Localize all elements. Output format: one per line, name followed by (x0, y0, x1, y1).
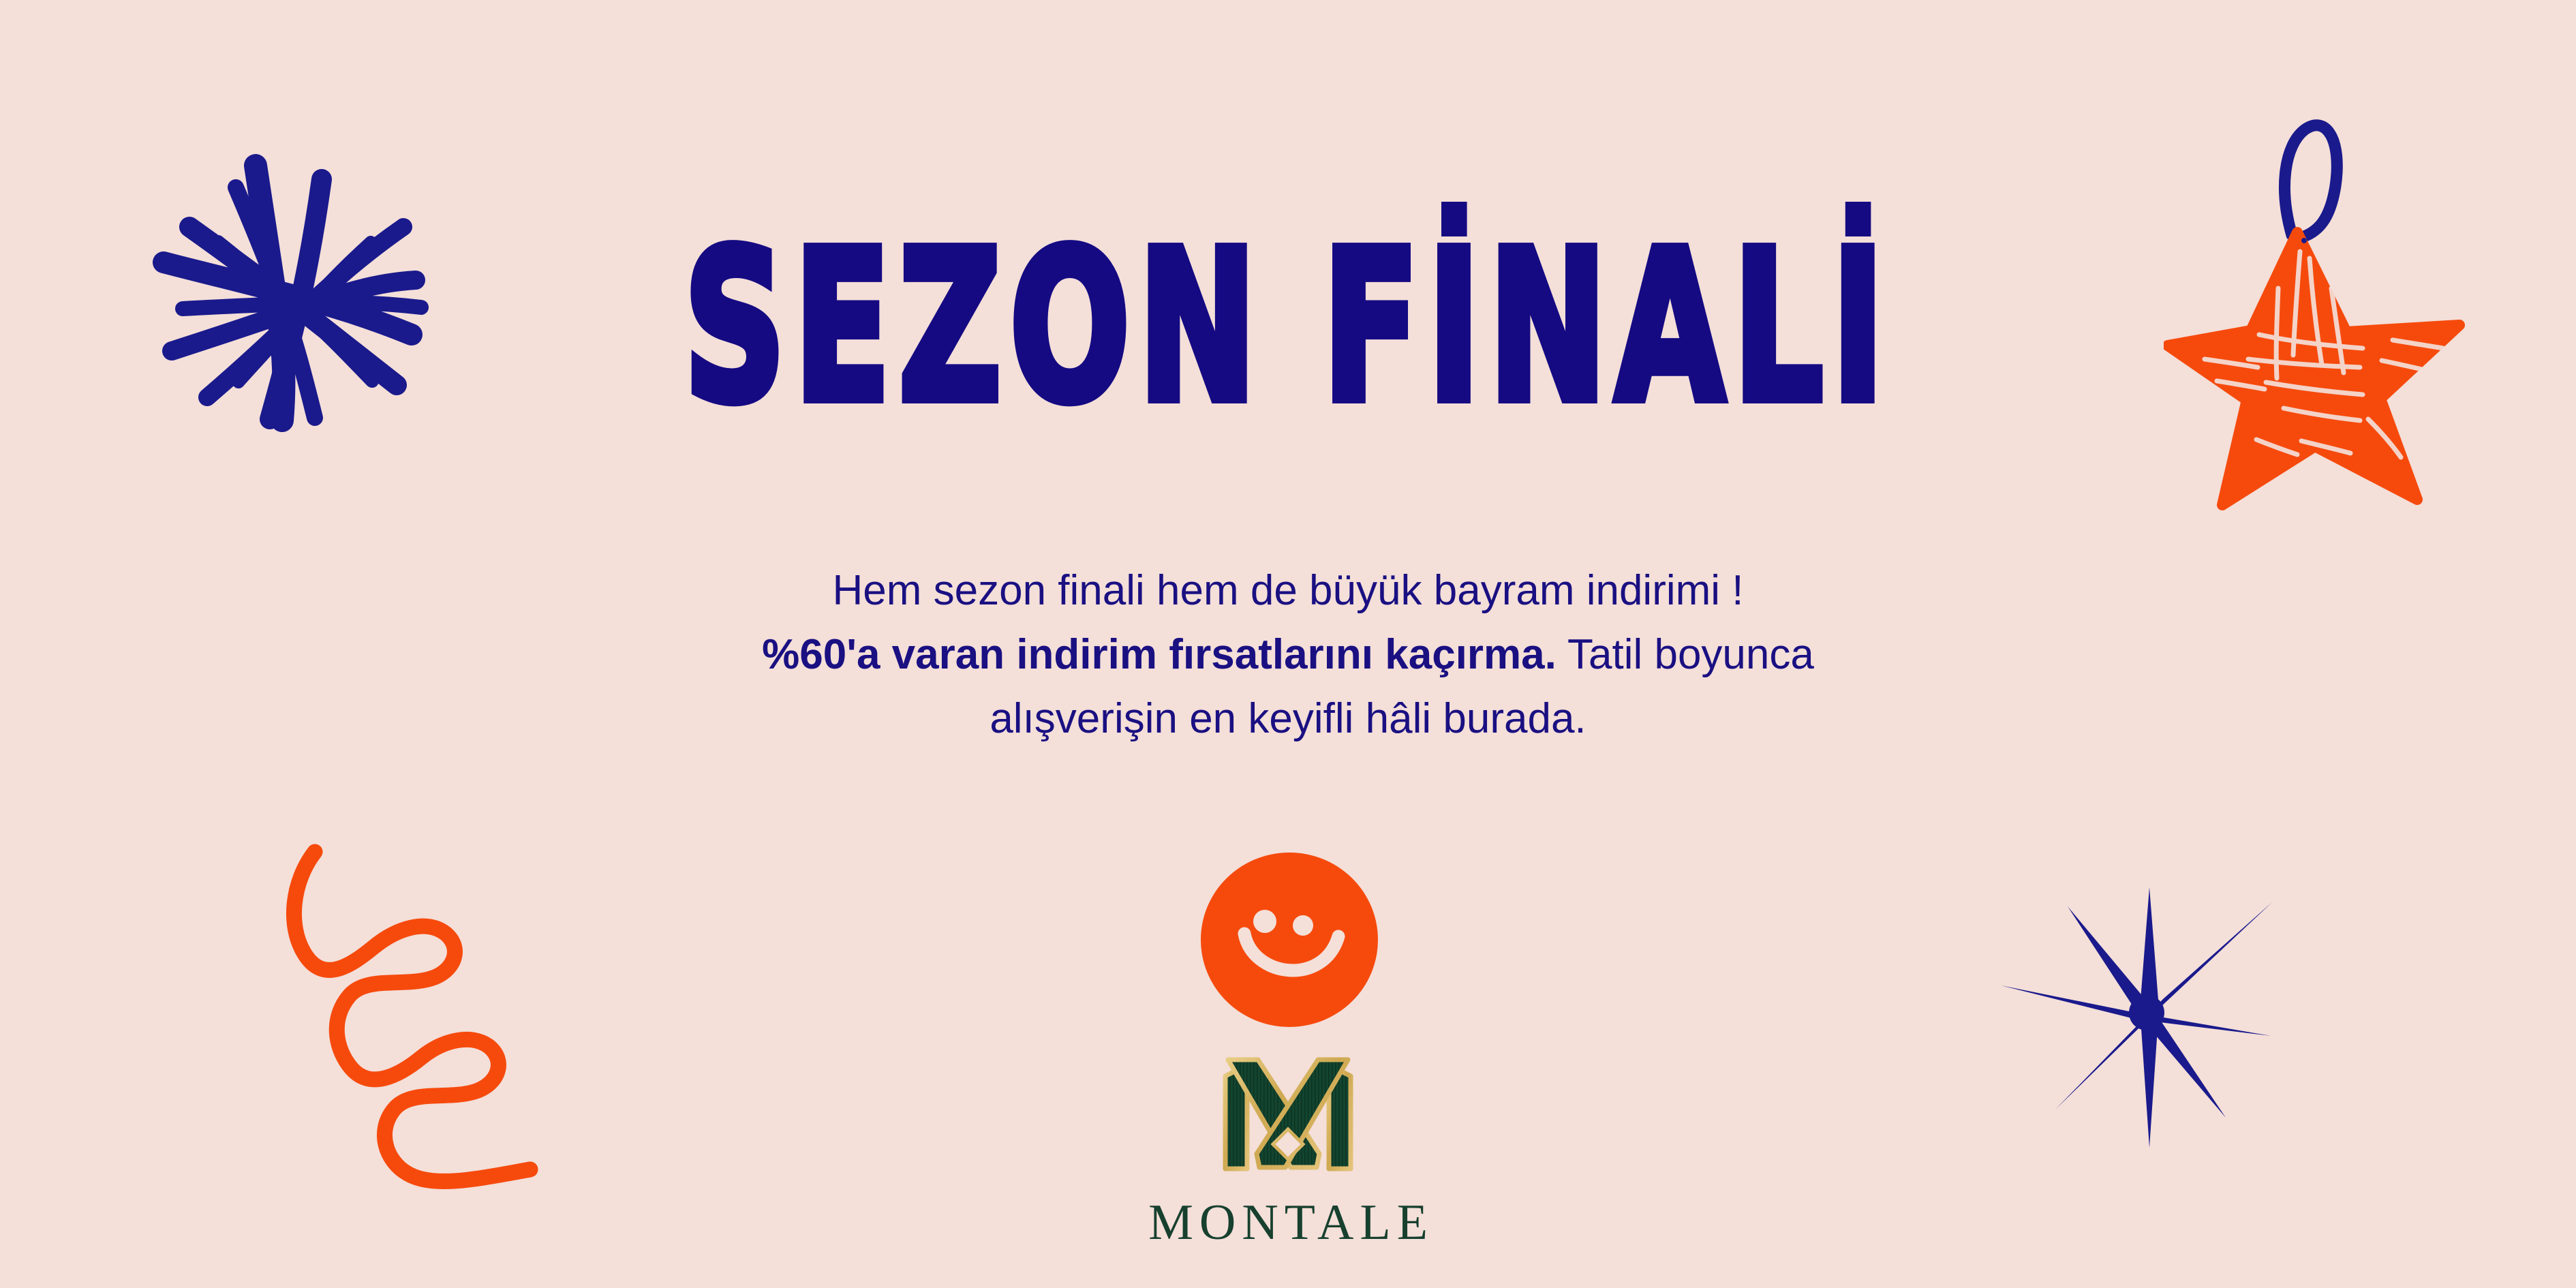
body-copy: Hem sezon finali hem de büyük bayram ind… (0, 559, 2576, 752)
orange-smiley-face-icon (1187, 850, 1392, 1029)
brand-logo: MONTALE (0, 1053, 2576, 1248)
headline: SEZON FİNALİ (0, 225, 2576, 382)
headline-text: SEZON FİNALİ (684, 225, 1892, 432)
body-line-3: alışverişin en keyifli hâli burada. (0, 687, 2576, 751)
promotional-banner: SEZON FİNALİ Hem sezon finali hem de büy… (0, 0, 2576, 1288)
montale-monogram-icon (1216, 1053, 1360, 1177)
montale-wordmark: MONTALE (0, 1197, 2576, 1248)
discount-highlight: %60'a varan indirim fırsatlarını kaçırma… (762, 631, 1557, 678)
body-line-2: %60'a varan indirim fırsatlarını kaçırma… (0, 623, 2576, 687)
body-line-2-rest: Tatil boyunca (1557, 631, 1814, 678)
body-line-1: Hem sezon finali hem de büyük bayram ind… (0, 559, 2576, 623)
